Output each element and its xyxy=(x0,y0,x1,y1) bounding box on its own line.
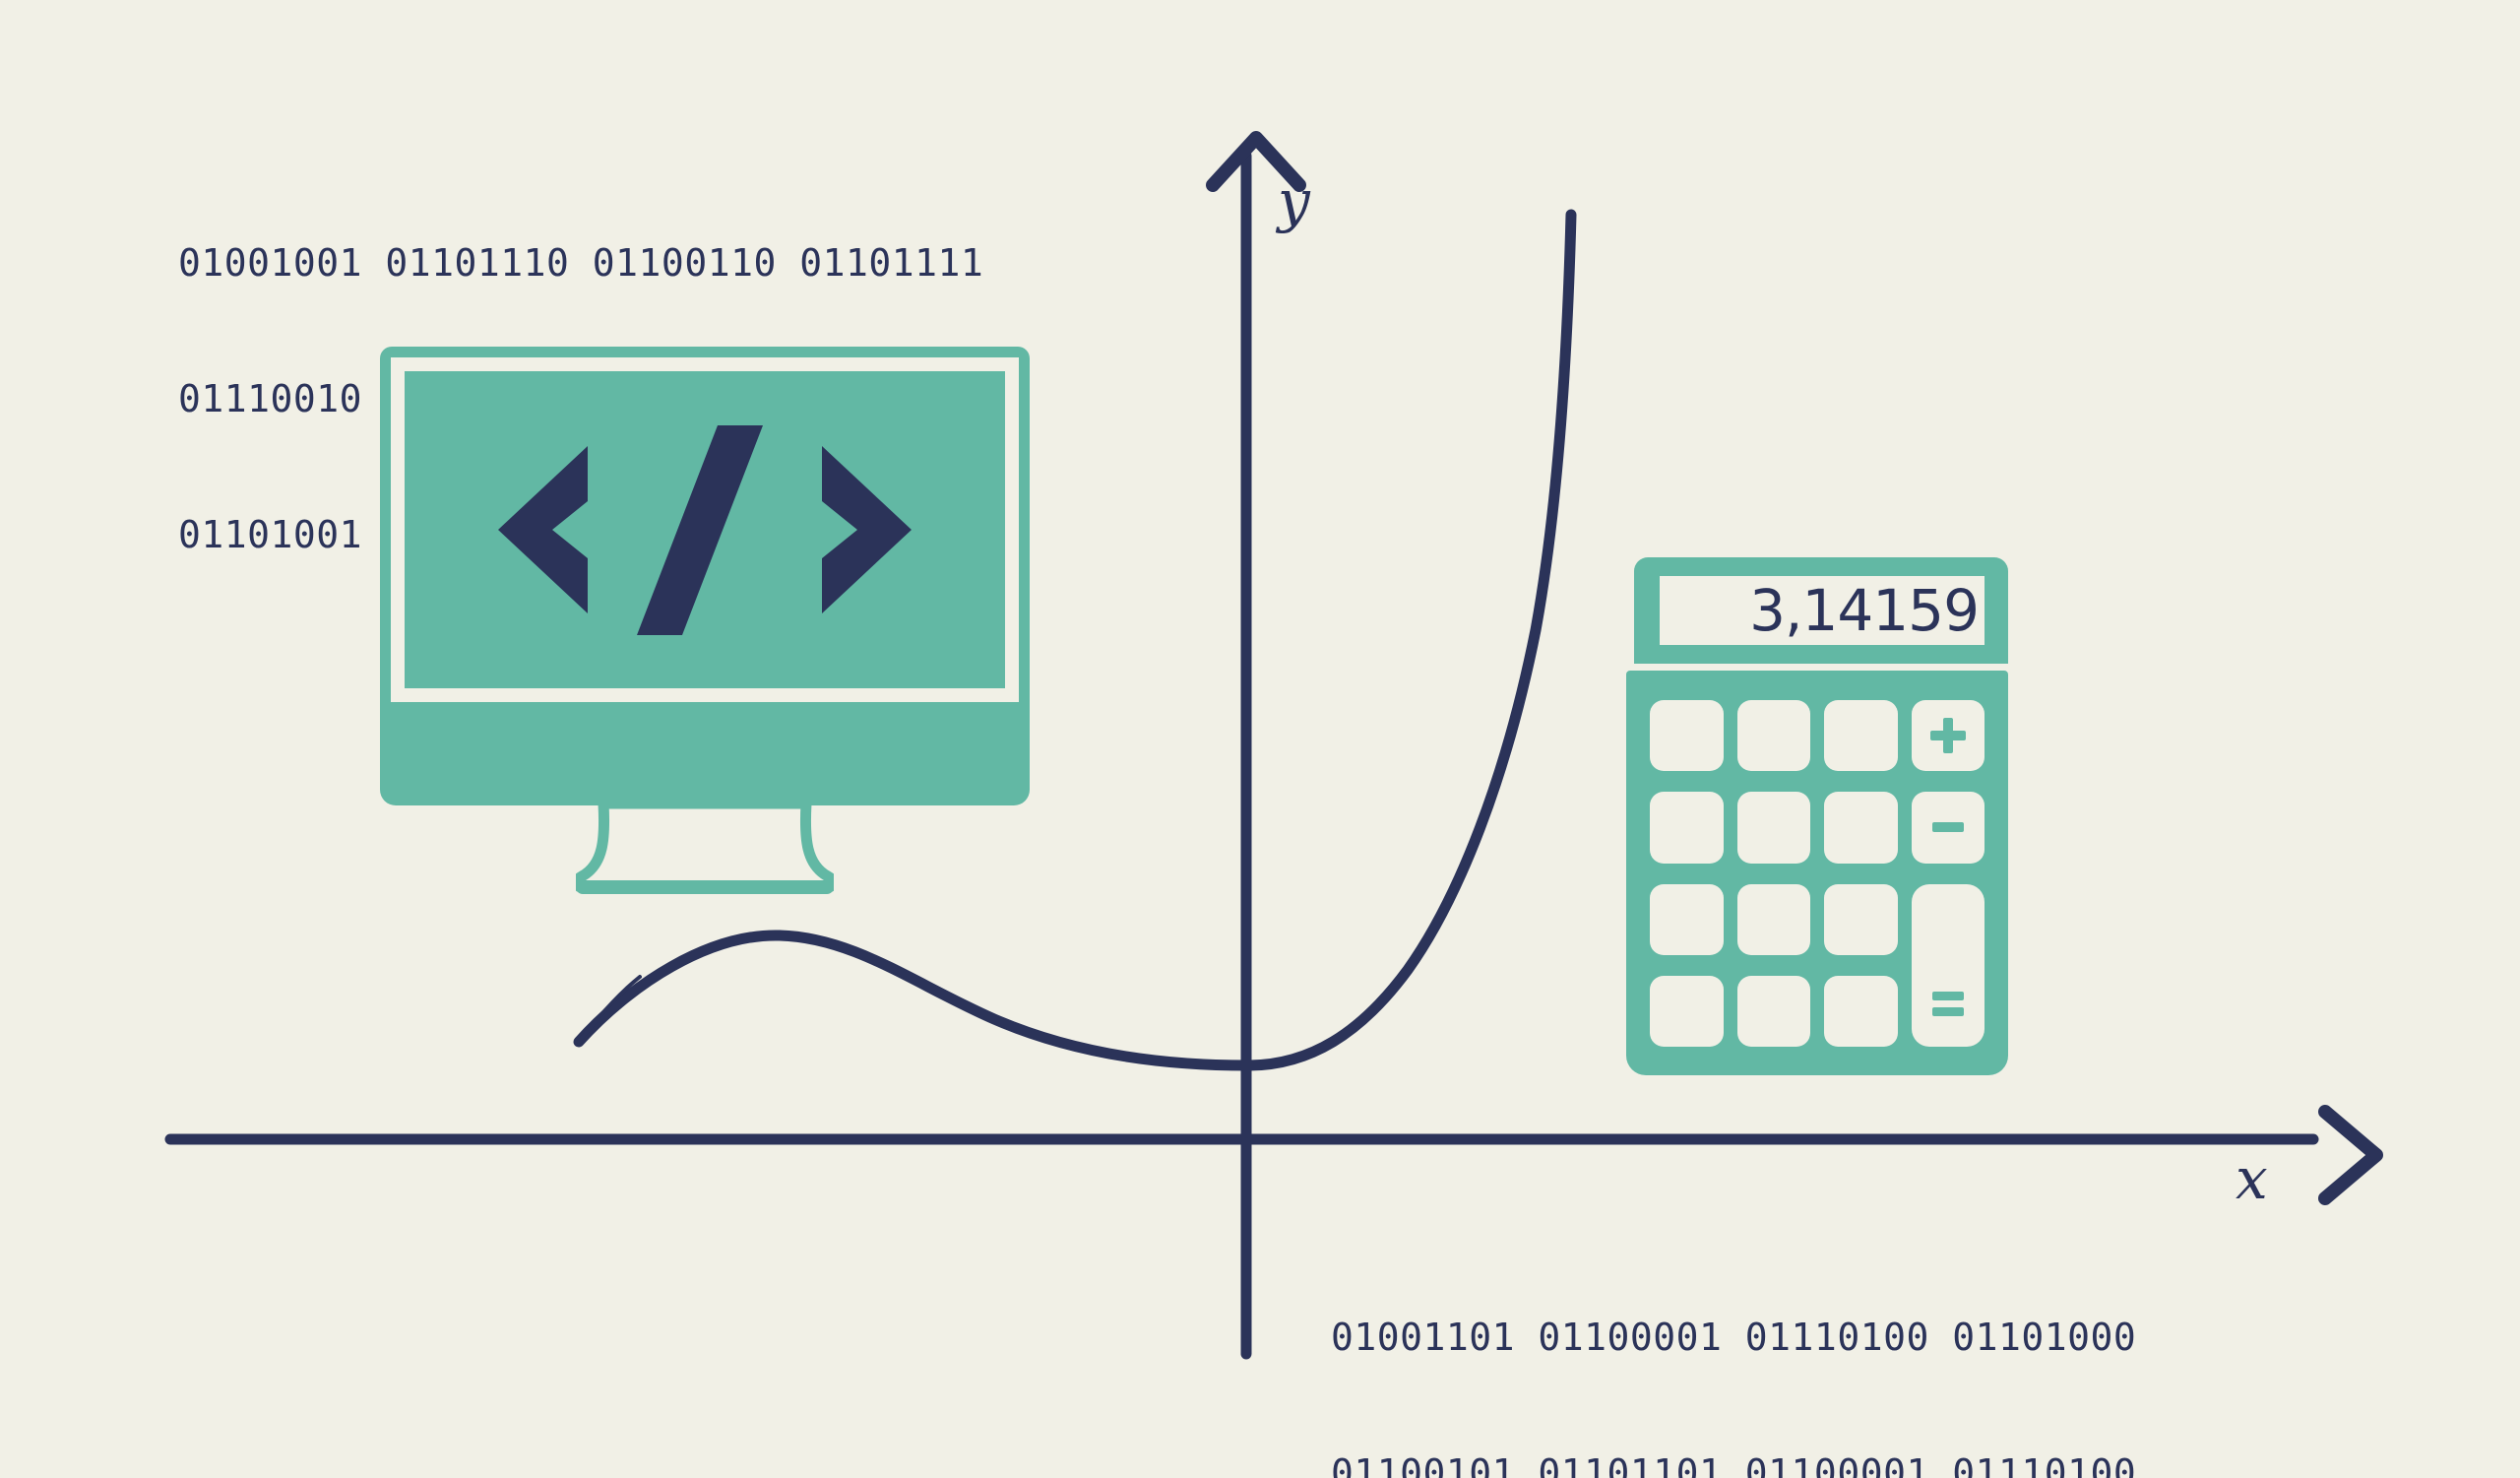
calc-key-blank-7[interactable] xyxy=(1650,884,1724,955)
minus-icon xyxy=(1927,806,1969,848)
calc-key-blank-2[interactable] xyxy=(1737,700,1811,771)
calc-key-blank-6[interactable] xyxy=(1824,792,1898,863)
calc-key-blank-12[interactable] xyxy=(1824,976,1898,1047)
calc-key-blank-11[interactable] xyxy=(1737,976,1811,1047)
calculator-display-value: 3,14159 xyxy=(1749,582,1979,639)
calculator-display-screen: 3,14159 xyxy=(1660,576,1984,645)
calc-key-blank-4[interactable] xyxy=(1650,792,1724,863)
calculator-keypad xyxy=(1650,700,1984,1047)
calculator-display-shell: 3,14159 xyxy=(1634,557,2008,664)
calc-key-blank-5[interactable] xyxy=(1737,792,1811,863)
monitor-stand xyxy=(576,803,834,894)
illustration-canvas: 01001001 01101110 01100110 01101111 0111… xyxy=(0,0,2520,1478)
plus-icon xyxy=(1927,715,1969,756)
code-brackets-icon xyxy=(405,371,1005,688)
calc-key-blank-3[interactable] xyxy=(1824,700,1898,771)
equals-icon xyxy=(1927,990,1969,1019)
monitor-stand-base xyxy=(576,880,834,894)
right-angle-bracket xyxy=(822,446,912,613)
computer-monitor-icon xyxy=(380,347,1030,805)
calculator-icon: 3,14159 xyxy=(1626,557,2008,1075)
y-axis-label: y xyxy=(1278,172,1310,229)
x-axis-label: x xyxy=(2236,1150,2268,1207)
monitor-stand-neck xyxy=(577,803,833,888)
left-angle-bracket xyxy=(498,446,588,613)
calc-key-minus[interactable] xyxy=(1912,792,1985,863)
calculator-body xyxy=(1626,671,2008,1075)
forward-slash xyxy=(637,425,763,635)
calc-key-blank-9[interactable] xyxy=(1824,884,1898,955)
function-curve xyxy=(0,0,2520,1478)
calc-key-blank-8[interactable] xyxy=(1737,884,1811,955)
calc-key-plus[interactable] xyxy=(1912,700,1985,771)
calc-key-blank-1[interactable] xyxy=(1650,700,1724,771)
calc-key-blank-10[interactable] xyxy=(1650,976,1724,1047)
calc-key-equals[interactable] xyxy=(1912,884,1985,1048)
